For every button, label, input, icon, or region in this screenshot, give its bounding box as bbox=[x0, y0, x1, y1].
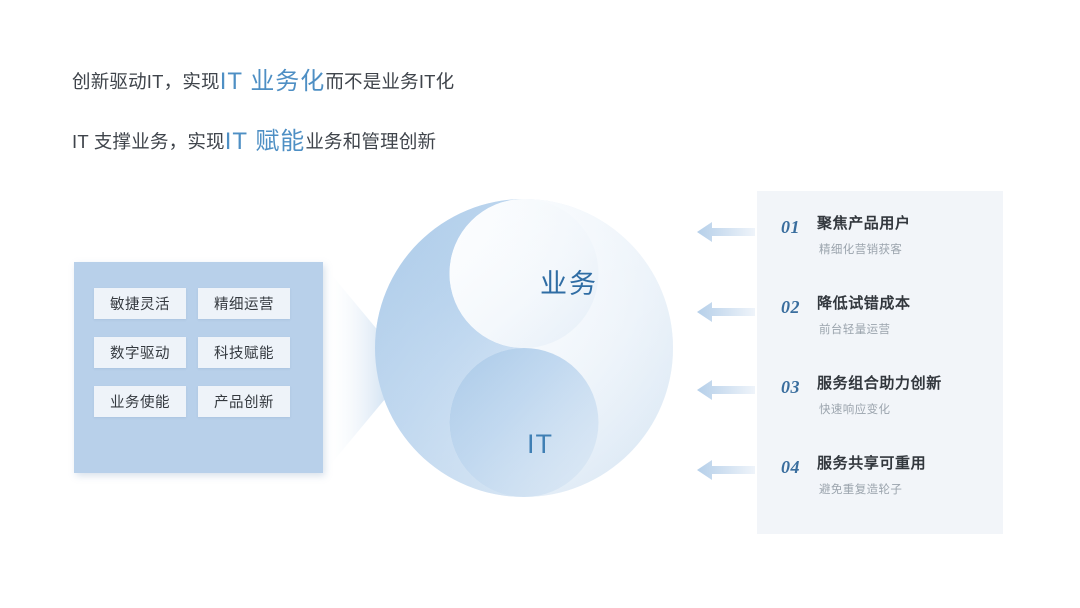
list-item-title: 服务共享可重用 bbox=[817, 455, 993, 473]
headline-1-suffix: 而不是业务IT化 bbox=[325, 71, 454, 92]
benefits-list: 01 聚焦产品用户 精细化营销获客 02 降低试错成本 前台轻量运营 03 服务… bbox=[781, 215, 993, 535]
slide-root: { "headlines": [ { "pre": "创新驱动IT，实现", "… bbox=[0, 0, 1080, 608]
capability-pill[interactable]: 精细运营 bbox=[198, 288, 290, 319]
capability-pill[interactable]: 业务使能 bbox=[94, 386, 186, 417]
list-item-subtitle: 精细化营销获客 bbox=[819, 241, 993, 257]
list-item-subtitle: 前台轻量运营 bbox=[819, 321, 993, 337]
list-item-title: 服务组合助力创新 bbox=[817, 375, 993, 393]
headline-2-suffix: 业务和管理创新 bbox=[305, 131, 436, 152]
list-item-title: 降低试错成本 bbox=[817, 295, 993, 313]
headline-2-prefix: IT 支撑业务，实现 bbox=[72, 131, 225, 152]
arrow-left-icon bbox=[697, 220, 755, 244]
capability-pill[interactable]: 科技赋能 bbox=[198, 337, 290, 368]
diagram-bottom-label: IT bbox=[527, 429, 553, 459]
capability-pill[interactable]: 产品创新 bbox=[198, 386, 290, 417]
arrow-left-icon bbox=[697, 300, 755, 324]
headline-2-accent: IT 赋能 bbox=[225, 128, 306, 155]
yin-yang-diagram: 业务 IT bbox=[374, 198, 674, 498]
list-item[interactable]: 03 服务组合助力创新 快速响应变化 bbox=[781, 375, 993, 455]
list-item-number: 02 bbox=[781, 295, 817, 318]
diagram-top-label: 业务 bbox=[540, 269, 598, 299]
headline-1-accent: IT 业务化 bbox=[220, 68, 326, 95]
list-item-subtitle: 避免重复造轮子 bbox=[819, 481, 993, 497]
list-item-number: 01 bbox=[781, 215, 817, 238]
capability-pill-grid: 敏捷灵活 精细运营 数字驱动 科技赋能 业务使能 产品创新 bbox=[94, 288, 303, 417]
capability-pill[interactable]: 数字驱动 bbox=[94, 337, 186, 368]
list-item-body: 服务共享可重用 避免重复造轮子 bbox=[817, 455, 993, 497]
list-item[interactable]: 04 服务共享可重用 避免重复造轮子 bbox=[781, 455, 993, 535]
arrow-column bbox=[697, 196, 757, 506]
list-item-body: 聚焦产品用户 精细化营销获客 bbox=[817, 215, 993, 257]
headline-1-prefix: 创新驱动IT，实现 bbox=[72, 71, 220, 92]
list-item-subtitle: 快速响应变化 bbox=[819, 401, 993, 417]
arrow-left-icon bbox=[697, 378, 755, 402]
list-item[interactable]: 01 聚焦产品用户 精细化营销获客 bbox=[781, 215, 993, 295]
headline-block: 创新驱动IT，实现IT 业务化而不是业务IT化 IT 支撑业务，实现IT 赋能业… bbox=[72, 66, 692, 159]
list-item-title: 聚焦产品用户 bbox=[817, 215, 993, 233]
capability-box: 敏捷灵活 精细运营 数字驱动 科技赋能 业务使能 产品创新 bbox=[74, 262, 323, 473]
benefits-panel: 01 聚焦产品用户 精细化营销获客 02 降低试错成本 前台轻量运营 03 服务… bbox=[757, 191, 1003, 534]
list-item-number: 03 bbox=[781, 375, 817, 398]
arrow-left-icon bbox=[697, 458, 755, 482]
list-item[interactable]: 02 降低试错成本 前台轻量运营 bbox=[781, 295, 993, 375]
list-item-number: 04 bbox=[781, 455, 817, 478]
headline-line-2: IT 支撑业务，实现IT 赋能业务和管理创新 bbox=[72, 126, 692, 158]
list-item-body: 降低试错成本 前台轻量运营 bbox=[817, 295, 993, 337]
list-item-body: 服务组合助力创新 快速响应变化 bbox=[817, 375, 993, 417]
headline-line-1: 创新驱动IT，实现IT 业务化而不是业务IT化 bbox=[72, 66, 692, 98]
capability-pill[interactable]: 敏捷灵活 bbox=[94, 288, 186, 319]
